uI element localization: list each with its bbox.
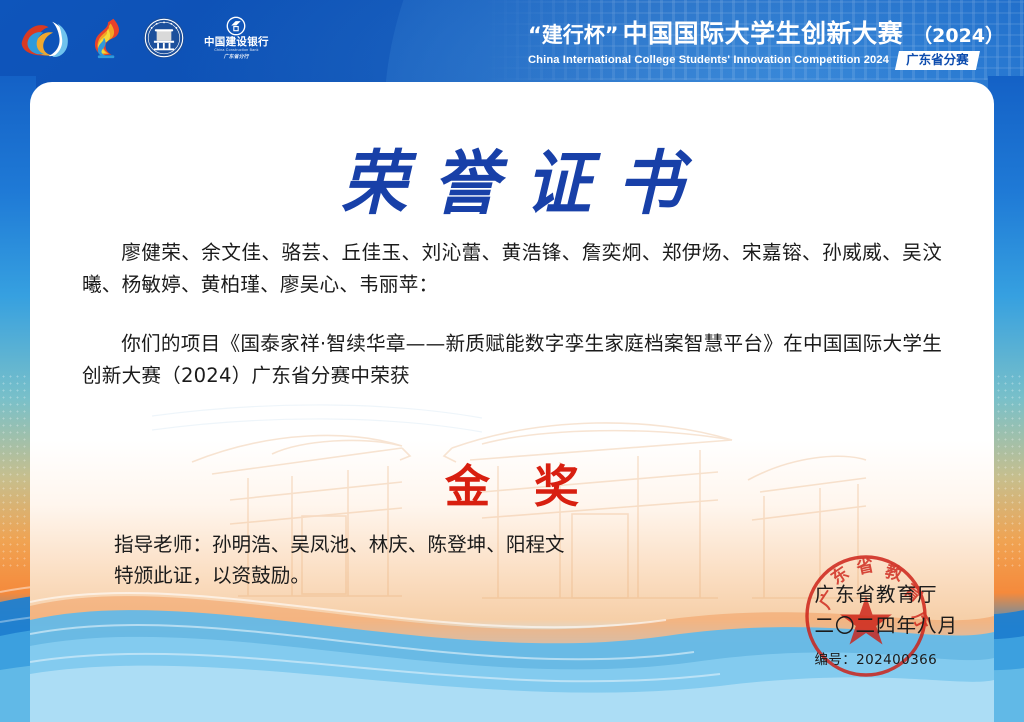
signature-block: 广东省教育厅 二〇二四年八月 编号：202400366 [814,578,958,668]
body-spacer [82,300,942,328]
certificate-page: 中国建设银行 China Construction Bank 广东省分行 “建行… [0,0,1024,722]
closing-line: 特颁此证，以资鼓励。 [114,561,565,592]
page-header: 中国建设银行 China Construction Bank 广东省分行 “建行… [0,0,1024,76]
project-paragraph: 你们的项目《国泰家祥·智续华章——新质赋能数字孪生家庭档案智慧平台》在中国国际大… [82,328,942,391]
issue-date: 二〇二四年八月 [814,609,958,638]
recipients-paragraph: 廖健荣、余文佳、骆芸、丘佳玉、刘沁蕾、黄浩锋、詹奕炯、郑伊炀、宋嘉镕、孙威威、吴… [82,237,942,300]
ccb-bank-logo: 中国建设银行 China Construction Bank 广东省分行 [204,16,269,60]
region-badge: 广东省分赛 [895,51,979,70]
competition-wave-logo-icon [18,16,72,60]
certificate-title: 荣誉证书 [30,127,994,229]
header-year-label: （2024） [913,21,1004,48]
advisors-block: 指导老师：孙明浩、吴凤池、林庆、陈登坤、阳程文 特颁此证，以资鼓励。 [114,530,565,592]
issuer-name: 广东省教育厅 [814,578,958,607]
header-english-title: China International College Students' In… [528,54,889,66]
region-badge-label: 广东省分赛 [906,52,969,68]
header-title-row-primary: “建行杯” 中国国际大学生创新大赛 （2024） [528,14,1004,50]
certificate-content: 荣誉证书 廖健荣、余文佳、骆芸、丘佳玉、刘沁蕾、黄浩锋、詹奕炯、郑伊炀、宋嘉镕、… [30,82,994,722]
certificate-card: 荣誉证书 廖健荣、余文佳、骆芸、丘佳玉、刘沁蕾、黄浩锋、詹奕炯、郑伊炀、宋嘉镕、… [30,82,994,722]
university-seal-logo-icon [142,16,186,60]
award-level: 金奖 [30,450,994,515]
header-logo-group: 中国建设银行 China Construction Bank 广东省分行 [18,16,269,60]
ccb-logo-province-label: 广东省分行 [223,53,249,60]
ccb-logo-en-label: China Construction Bank [214,49,258,53]
header-main-title: 中国国际大学生创新大赛 [623,14,904,50]
certificate-number: 编号：202400366 [814,648,958,668]
ccb-diamond-icon [226,16,246,36]
ccb-logo-cn-label: 中国建设银行 [204,37,269,48]
certificate-body: 廖健荣、余文佳、骆芸、丘佳玉、刘沁蕾、黄浩锋、詹奕炯、郑伊炀、宋嘉镕、孙威威、吴… [82,237,942,392]
flame-torch-logo-icon [90,16,124,60]
header-title-block: “建行杯” 中国国际大学生创新大赛 （2024） China Internati… [528,14,1004,70]
advisors-line: 指导老师：孙明浩、吴凤池、林庆、陈登坤、阳程文 [114,530,565,561]
header-sponsor-label: “建行杯” [528,19,619,49]
header-title-row-secondary: China International College Students' In… [528,51,978,70]
